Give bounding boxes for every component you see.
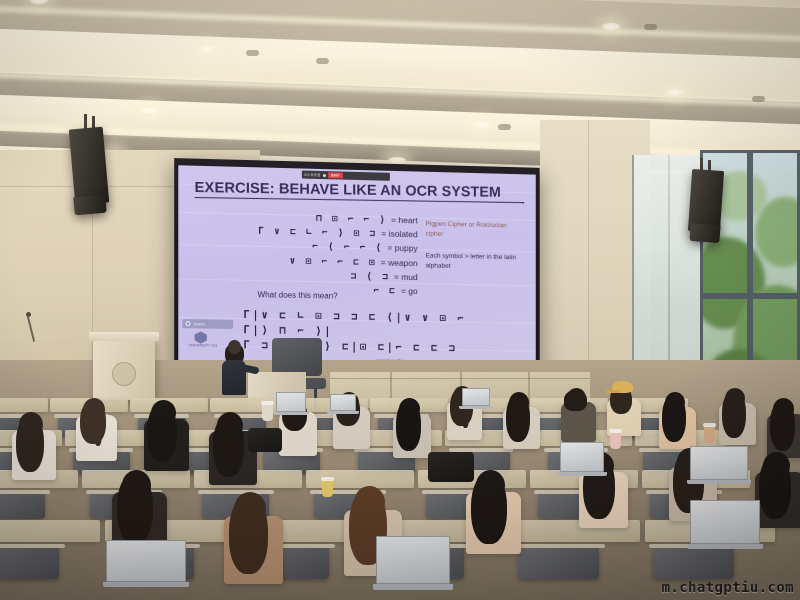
note-symbol-mapping: Each symbol > letter in the latin alphab…	[426, 251, 524, 273]
laptop-screen[interactable]	[462, 388, 490, 406]
laptop-screen[interactable]	[376, 536, 450, 584]
cipher-row: ⌐ ⟨ ⌐ ⌐ ⟨ = puppy	[237, 240, 417, 255]
laptop-keyboard[interactable]	[103, 582, 189, 587]
student-head	[234, 492, 266, 526]
student	[232, 492, 295, 600]
cipher-row: ⊓ ⊡ ⌐ ⌐ ⟩ = heart	[237, 211, 417, 226]
student-head	[773, 398, 794, 420]
chair[interactable]	[653, 546, 734, 579]
cipher-row: ⊐ ⟨ ⊐ = mud	[237, 268, 417, 283]
laptop-screen[interactable]	[276, 392, 306, 412]
logo-dot-icon	[185, 321, 190, 326]
drink-cup-lid	[609, 429, 622, 433]
laptop-screen[interactable]	[560, 442, 604, 472]
student-head	[217, 412, 243, 439]
student-head	[151, 400, 176, 426]
laptop-keyboard[interactable]	[327, 411, 359, 414]
left-hanging-speaker	[69, 127, 109, 206]
cipher-word: = puppy	[387, 243, 417, 254]
cipher-row: Γ ∨ ⊏ ∟ ⌐ ⟩ ⊡ ⊐ = isolated	[237, 225, 417, 240]
student	[508, 392, 547, 461]
chair[interactable]	[0, 546, 59, 579]
student	[216, 412, 266, 501]
drink-cup-lid	[261, 401, 274, 405]
presentation-slide: 演示者视图 录制中 EXERCISE: BEHAVE LIKE AN OCR S…	[178, 165, 535, 368]
laptop-keyboard[interactable]	[557, 472, 607, 476]
desk	[0, 520, 100, 542]
chair-frame	[0, 544, 65, 548]
student-head	[665, 392, 685, 413]
slide-question: What does this mean?	[258, 290, 338, 301]
student-head	[399, 398, 420, 420]
student-head	[725, 388, 745, 409]
ceiling-downlight	[664, 88, 686, 97]
laptop-keyboard[interactable]	[687, 544, 763, 549]
student-head	[509, 392, 529, 413]
laptop-keyboard[interactable]	[459, 406, 493, 409]
laptop-screen[interactable]	[690, 446, 748, 480]
toolbar-label: 演示者视图	[304, 173, 321, 177]
ceiling-downlight	[600, 22, 622, 31]
student	[762, 452, 800, 544]
student-head	[567, 388, 586, 408]
left-hanging-speaker-lower	[73, 195, 106, 216]
laptop-screen[interactable]	[106, 540, 186, 582]
student-head	[19, 412, 43, 437]
drink-cup	[262, 404, 273, 421]
logo-pill-text: Bulletin	[194, 322, 205, 326]
student-head	[476, 470, 505, 501]
drink-cup-lid	[321, 477, 334, 481]
riddle-line: Γ|∨ ⊏ ∟ ⊡ ⊐ ⊐ ⊏ ⟨|∨ ∨ ⊡ ⌐ Γ|⟩ ⊓ ⌐ ⟩|	[243, 308, 492, 342]
laptop-keyboard[interactable]	[273, 412, 309, 415]
laptop-keyboard[interactable]	[373, 584, 453, 590]
student-head	[122, 470, 151, 501]
slide-title: EXERCISE: BEHAVE LIKE AN OCR SYSTEM	[195, 180, 525, 203]
university-crest-icon	[195, 331, 207, 343]
recording-badge: 录制中	[328, 172, 343, 178]
cap-brim	[606, 390, 619, 394]
cipher-word: = weapon	[381, 257, 418, 268]
drink-cup	[322, 480, 333, 497]
desk	[0, 398, 48, 412]
handbag	[428, 452, 474, 482]
right-hanging-speaker-lower	[689, 223, 720, 243]
laptop-screen[interactable]	[330, 394, 356, 411]
cipher-word: = mud	[394, 271, 418, 281]
ceiling-downlight	[196, 44, 218, 53]
laptop-screen[interactable]	[690, 500, 760, 544]
cipher-word: = heart	[391, 215, 418, 226]
cipher-glyphs: ⌐ ⊏	[373, 285, 397, 296]
presenter	[222, 360, 246, 395]
student	[18, 412, 64, 495]
lectern	[93, 338, 155, 400]
student-head	[83, 398, 105, 421]
cipher-glyphs: ∨ ⊡ ⌐ ⌐ ⊏ ⊡	[290, 255, 377, 268]
cipher-glyphs: ⌐ ⟨ ⌐ ⌐ ⟨	[312, 241, 383, 254]
presenter-head	[228, 340, 241, 354]
backpack	[248, 428, 282, 452]
ceiling	[0, 0, 800, 175]
drink-cup	[610, 432, 621, 449]
stage-chair-back	[272, 338, 322, 376]
cipher-glyphs: ⊐ ⟨ ⊐	[351, 271, 390, 283]
site-watermark: m.chatgptiu.com	[662, 580, 794, 596]
drink-cup-lid	[703, 423, 716, 427]
cipher-word: = go	[401, 286, 418, 296]
lectern-crest-icon	[112, 362, 136, 386]
cipher-word-list: ⊓ ⊡ ⌐ ⌐ ⟩ = heart Γ ∨ ⊏ ∟ ⌐ ⟩ ⊡ ⊐ = isol…	[237, 211, 417, 300]
cipher-glyphs: Γ ∨ ⊏ ∟ ⌐ ⟩ ⊡ ⊐	[258, 226, 377, 240]
cipher-glyphs: ⊓ ⊡ ⌐ ⌐ ⟩	[316, 213, 387, 226]
slide-notes: Pigpen Cipher or Roicrucian cipher Each …	[426, 220, 524, 274]
laptop-keyboard[interactable]	[687, 480, 751, 484]
student	[82, 398, 125, 474]
cipher-word: = isolated	[381, 229, 417, 240]
ceiling-downlight	[470, 120, 492, 129]
student-head	[763, 452, 790, 480]
ceiling-downlight	[138, 106, 160, 115]
student-ponytail	[94, 419, 102, 447]
drink-cup	[704, 426, 715, 443]
chair[interactable]	[0, 492, 45, 519]
student	[474, 470, 531, 572]
student-head	[354, 486, 385, 519]
cipher-row: ∨ ⊡ ⌐ ⌐ ⊏ ⊡ = weapon	[237, 254, 417, 269]
toolbar-dot-icon	[322, 174, 325, 177]
presenter-toolbar[interactable]: 演示者视图 录制中	[302, 171, 390, 181]
lecture-hall-photo: 演示者视图 录制中 EXERCISE: BEHAVE LIKE AN OCR S…	[0, 0, 800, 600]
note-cipher-name: Pigpen Cipher or Roicrucian cipher	[426, 220, 524, 242]
